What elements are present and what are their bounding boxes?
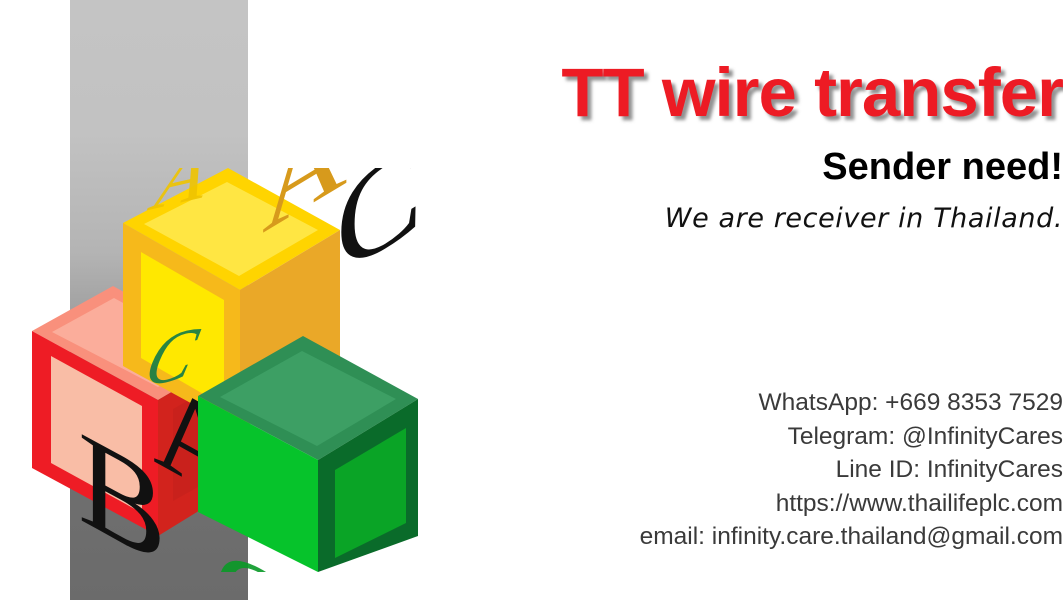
poster-canvas: B A A A <box>0 0 1063 600</box>
contact-line-whatsapp: WhatsApp: +669 8353 7529 <box>363 386 1063 420</box>
tagline: We are receiver in Thailand. <box>363 202 1063 236</box>
subtitle: Sender need! <box>363 148 1063 188</box>
contact-details-list: WhatsApp: +669 8353 7529 Telegram: @Infi… <box>363 386 1063 554</box>
contact-line-website: https://www.thailifeplc.com <box>363 487 1063 521</box>
contact-line-telegram: Telegram: @InfinityCares <box>363 420 1063 454</box>
abc-blocks-illustration: B A A A <box>18 168 418 572</box>
contact-line-lineid: Line ID: InfinityCares <box>363 453 1063 487</box>
contact-line-email: email: infinity.care.thailand@gmail.com <box>363 520 1063 554</box>
page-title: TT wire transfer <box>363 58 1063 127</box>
svg-text:C: C <box>336 168 418 305</box>
